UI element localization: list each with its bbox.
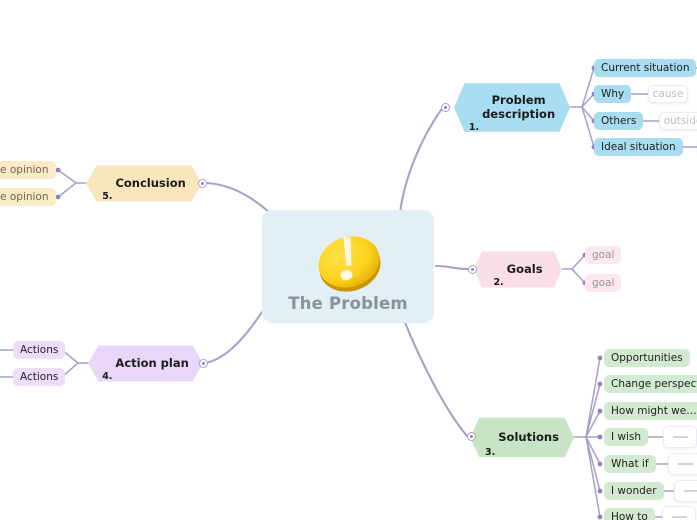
branch-node-problem-description[interactable]: 1. Problem description	[454, 80, 570, 135]
child-node-others[interactable]: Others	[594, 112, 643, 130]
branch-node-conclusion[interactable]: 5. Conclusion	[86, 163, 202, 204]
child-node-current-situation[interactable]: Current situation	[594, 59, 696, 77]
grandchild-node-cause[interactable]: cause	[648, 85, 688, 103]
branch-number: 4.	[102, 371, 112, 384]
collapse-handle-solutions[interactable]	[467, 432, 476, 441]
child-node-goal-2[interactable]: goal	[585, 274, 621, 292]
child-node-why[interactable]: Why	[594, 85, 631, 103]
central-node-label: The Problem	[288, 294, 408, 313]
branch-node-action-plan[interactable]: 4. Action plan	[88, 343, 203, 384]
collapse-handle-action-plan[interactable]	[199, 359, 208, 368]
branch-title: Conclusion	[115, 177, 185, 191]
child-node-outside-opinion-1[interactable]: side opinion	[0, 161, 56, 179]
child-node-how-to[interactable]: How to	[604, 508, 655, 520]
branch-node-solutions[interactable]: 3. Solutions	[470, 415, 574, 460]
child-node-outside-opinion-2[interactable]: side opinion	[0, 188, 56, 206]
branch-number: 5.	[102, 191, 112, 204]
branch-number: 2.	[493, 277, 503, 290]
child-node-i-wish[interactable]: I wish	[604, 428, 648, 446]
child-node-actions-2[interactable]: Actions	[13, 368, 65, 386]
child-node-i-wonder[interactable]: I wonder	[604, 482, 664, 500]
collapse-handle-problem-description[interactable]	[441, 103, 450, 112]
branch-node-goals[interactable]: 2. Goals	[474, 249, 562, 290]
mindmap-canvas[interactable]: The Problem 1. Problem description Curre…	[0, 0, 697, 520]
child-node-goal-1[interactable]: goal	[585, 246, 621, 264]
exclamation-mark-icon	[305, 226, 391, 292]
child-node-actions-1[interactable]: Actions	[13, 341, 65, 359]
collapse-handle-conclusion[interactable]	[198, 179, 207, 188]
child-node-opportunities[interactable]: Opportunities	[604, 349, 690, 367]
child-node-what-if[interactable]: What if	[604, 455, 656, 473]
branch-number: 1.	[469, 122, 479, 135]
branch-title: Action plan	[115, 357, 188, 371]
grandchild-node-how-to[interactable]	[662, 506, 696, 520]
central-node[interactable]: The Problem	[262, 210, 434, 323]
grandchild-node-outside[interactable]: outside	[659, 112, 697, 130]
branch-title: Goals	[507, 263, 543, 277]
collapse-handle-goals[interactable]	[468, 265, 477, 274]
child-node-how-might-we[interactable]: How might we…	[604, 402, 697, 420]
branch-title: Solutions	[498, 431, 559, 445]
grandchild-node-i-wonder[interactable]	[674, 480, 697, 502]
grandchild-node-i-wish[interactable]	[663, 426, 697, 448]
branch-title: Problem description	[482, 94, 555, 121]
branch-number: 3.	[485, 447, 495, 460]
child-node-change-perspective[interactable]: Change perspective	[604, 375, 697, 393]
child-node-ideal-situation[interactable]: Ideal situation	[594, 138, 683, 156]
grandchild-node-what-if[interactable]	[668, 453, 697, 475]
